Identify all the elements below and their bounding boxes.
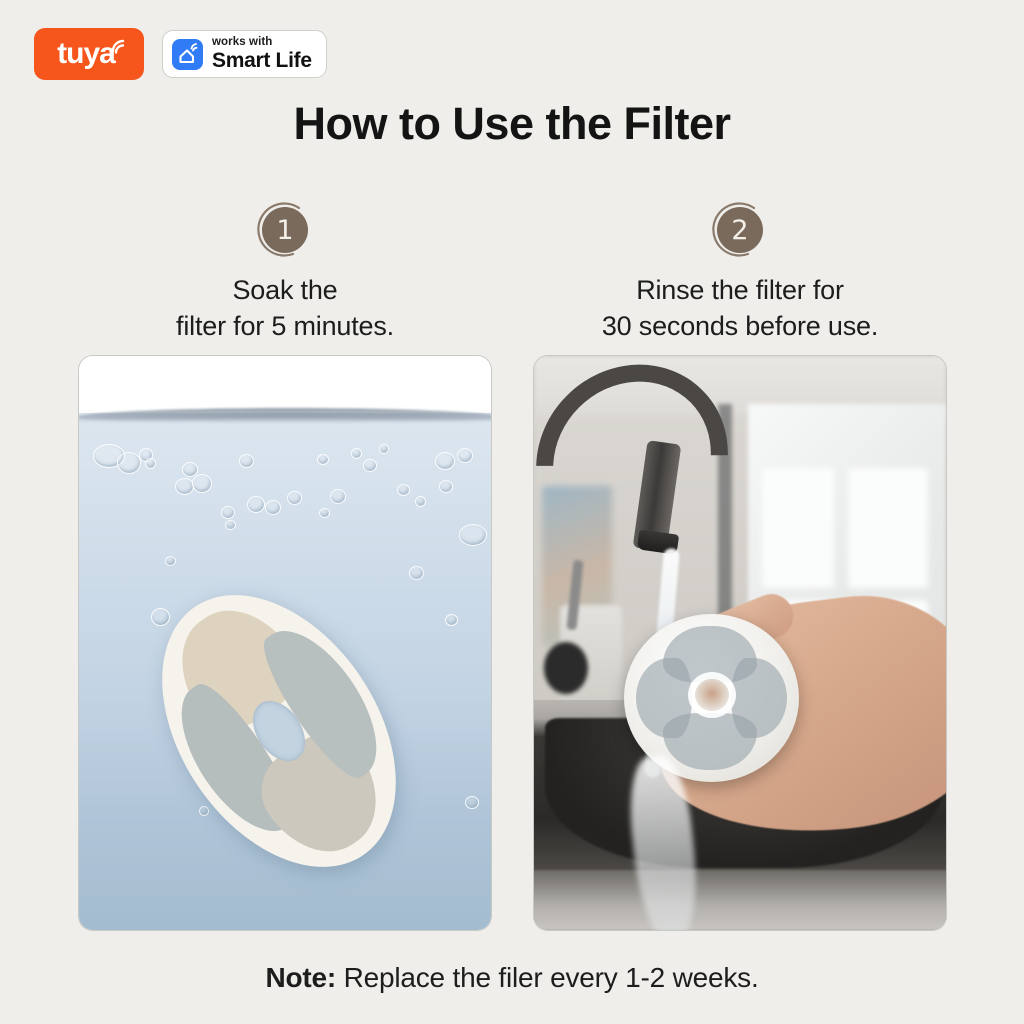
step-number-badge: 2 <box>710 200 770 260</box>
bubble <box>117 452 141 474</box>
sink-rim <box>534 870 946 930</box>
bubble <box>439 480 453 493</box>
utensil-dark <box>544 642 588 694</box>
photo-panels <box>78 355 947 931</box>
bubble <box>165 556 176 566</box>
bubble <box>465 796 479 809</box>
window-pane <box>762 468 834 588</box>
bubble <box>435 452 455 470</box>
product-infographic: tuya works with Smart Life How to Use th… <box>0 0 1024 1024</box>
bubble <box>225 520 236 530</box>
bubble <box>445 614 458 626</box>
wifi-icon <box>110 37 130 55</box>
bubble <box>247 496 265 513</box>
step-number: 2 <box>717 207 763 253</box>
works-with-smart-life-badge: works with Smart Life <box>162 30 327 78</box>
smart-life-text: works with Smart Life <box>212 37 312 72</box>
bubble <box>199 806 209 816</box>
step-1-photo <box>78 355 492 931</box>
bubble <box>379 444 389 454</box>
brand-badge-row: tuya works with Smart Life <box>34 28 327 80</box>
window-pane <box>848 468 928 588</box>
note-text: Replace the filer every 1-2 weeks. <box>336 962 759 993</box>
smart-life-label: Smart Life <box>212 50 312 71</box>
bubble <box>287 491 302 505</box>
bubble <box>397 484 410 496</box>
bubble <box>145 458 156 469</box>
water-surface-shadow <box>78 414 492 423</box>
step-1: 1 Soak the filter for 5 minutes. <box>78 200 492 344</box>
bubble <box>363 459 377 472</box>
step-caption: Soak the filter for 5 minutes. <box>176 272 394 344</box>
footer-note: Note: Replace the filer every 1-2 weeks. <box>0 962 1024 994</box>
bubble <box>351 448 362 459</box>
step-number-badge: 1 <box>255 200 315 260</box>
page-title: How to Use the Filter <box>0 98 1024 150</box>
smart-home-icon <box>172 39 203 70</box>
bubble <box>265 500 281 515</box>
bubble <box>415 496 426 507</box>
kitchen-scene <box>534 356 946 930</box>
air-above-water <box>79 356 491 416</box>
bubble <box>409 566 424 580</box>
tuya-logo: tuya <box>34 28 144 80</box>
step-number: 1 <box>262 207 308 253</box>
bubble <box>457 448 473 463</box>
step-caption: Rinse the filter for 30 seconds before u… <box>602 272 878 344</box>
bubble <box>319 508 330 518</box>
bubble <box>175 478 194 495</box>
steps-row: 1 Soak the filter for 5 minutes. 2 Rinse… <box>78 200 947 344</box>
bubble <box>317 454 329 465</box>
step-2: 2 Rinse the filter for 30 seconds before… <box>533 200 947 344</box>
tuya-wordmark: tuya <box>57 39 115 69</box>
note-label: Note: <box>265 962 336 993</box>
filter-center-hole <box>695 679 729 711</box>
filter-pad <box>663 713 758 770</box>
bubble <box>151 608 170 626</box>
bubble <box>330 489 346 504</box>
works-with-label: works with <box>212 37 312 49</box>
bubble <box>221 506 235 519</box>
bubble <box>459 524 487 546</box>
bubble <box>239 454 254 468</box>
step-2-photo <box>533 355 947 931</box>
bubble <box>192 474 212 493</box>
